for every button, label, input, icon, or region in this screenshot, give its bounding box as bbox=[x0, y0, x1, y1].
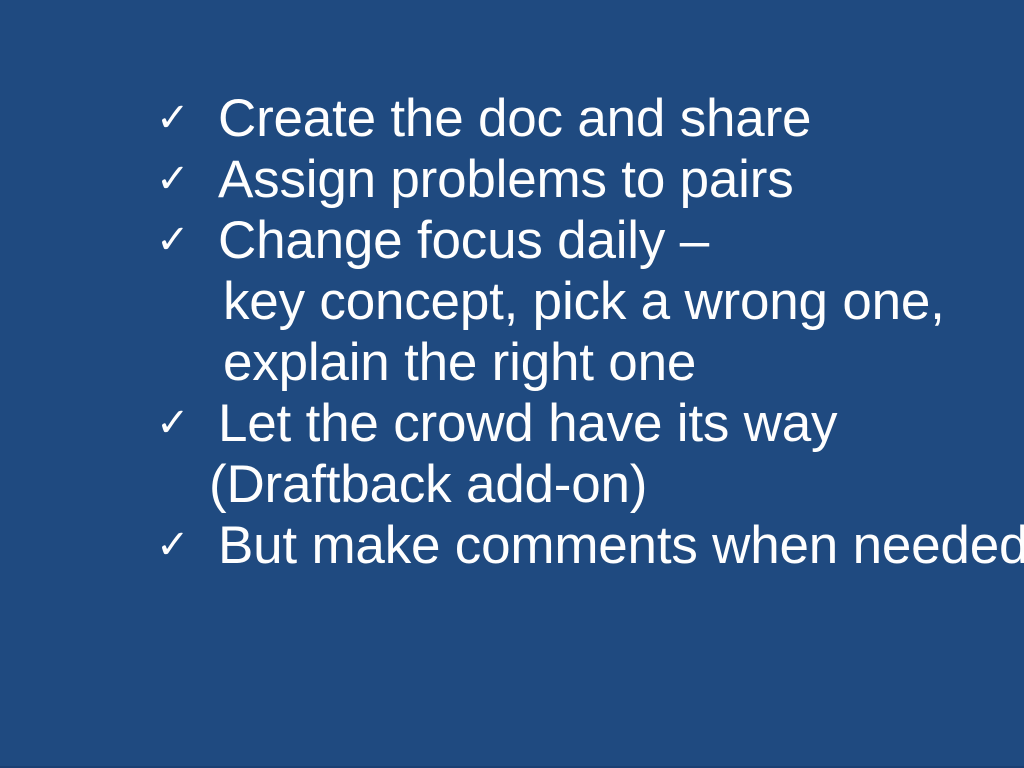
checkmark-icon: ✓ bbox=[156, 88, 190, 149]
list-item-continuation: key concept, pick a wrong one, bbox=[150, 271, 1010, 332]
list-item-label: key concept, pick a wrong one, bbox=[150, 271, 945, 332]
checkmark-icon: ✓ bbox=[156, 515, 190, 576]
list-item-continuation: (Draftback add-on) bbox=[150, 454, 1010, 515]
list-item-label: But make comments when needed bbox=[150, 515, 1024, 576]
checkmark-icon: ✓ bbox=[156, 210, 190, 271]
bullet-list: ✓ Create the doc and share ✓ Assign prob… bbox=[150, 88, 1010, 576]
list-item-label: (Draftback add-on) bbox=[150, 454, 647, 515]
list-item: ✓ Let the crowd have its way bbox=[150, 393, 1010, 454]
list-item-label: Create the doc and share bbox=[150, 88, 811, 149]
list-item-label: Change focus daily – bbox=[150, 210, 709, 271]
checkmark-icon: ✓ bbox=[156, 393, 190, 454]
list-item: ✓ Assign problems to pairs bbox=[150, 149, 1010, 210]
list-item-label: Let the crowd have its way bbox=[150, 393, 837, 454]
checkmark-icon: ✓ bbox=[156, 149, 190, 210]
list-item: ✓ But make comments when needed bbox=[150, 515, 1010, 576]
list-item-label: Assign problems to pairs bbox=[150, 149, 794, 210]
list-item-label: explain the right one bbox=[150, 332, 696, 393]
list-item: ✓ Change focus daily – bbox=[150, 210, 1010, 271]
slide-canvas: ✓ Create the doc and share ✓ Assign prob… bbox=[0, 0, 1024, 768]
list-item: ✓ Create the doc and share bbox=[150, 88, 1010, 149]
list-item-continuation: explain the right one bbox=[150, 332, 1010, 393]
